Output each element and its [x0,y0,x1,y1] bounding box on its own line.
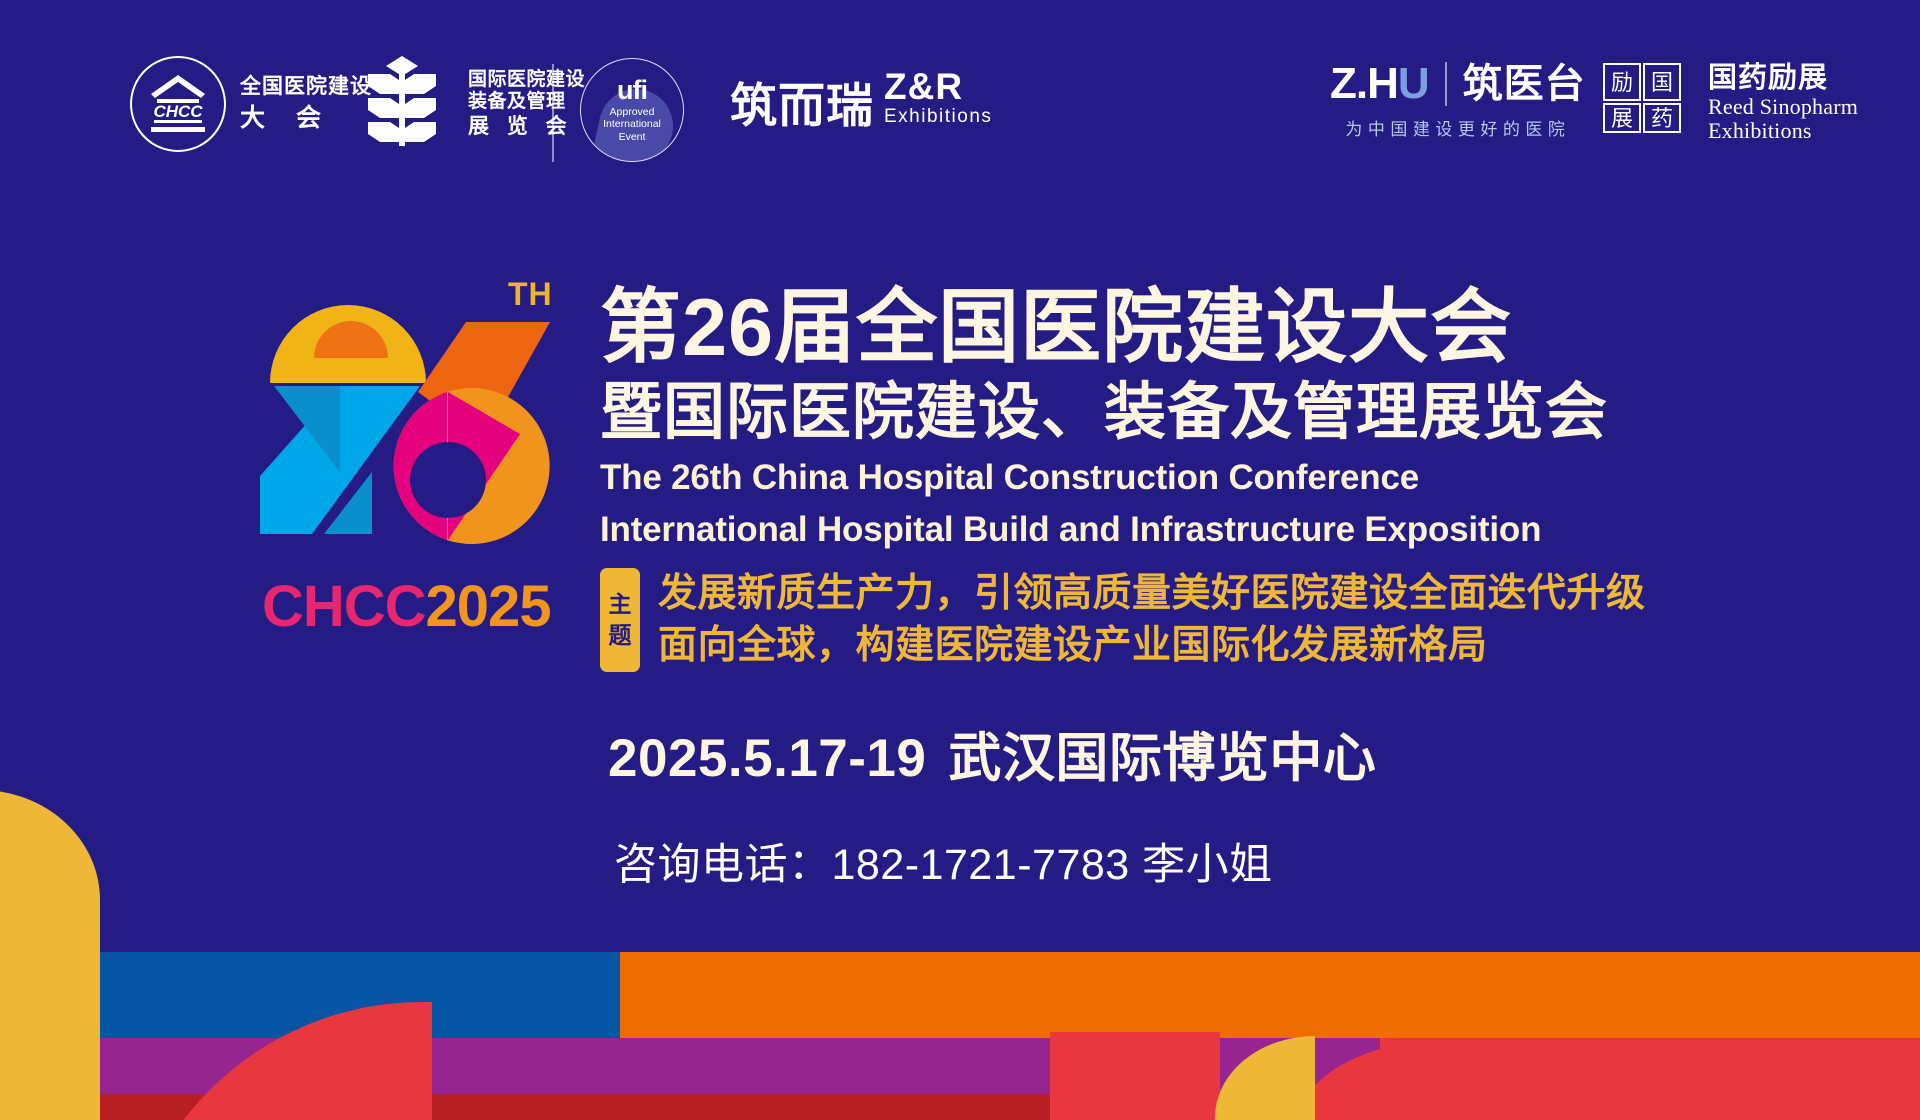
reed-logo-cn: 国药励展 [1708,63,1858,95]
zr-exhibitions-logo: 筑而瑞 Z&R Exhibitions [730,68,992,129]
title-chinese-primary: 第26届全国医院建设大会 [600,286,1900,372]
svg-text:CHCC: CHCC [153,102,203,121]
chcc-conference-logo: CHCC 全国医院建设 大 会 [130,56,372,152]
zhu-logo-divider [1445,62,1447,106]
reed-logo-text: 国药励展 Reed Sinopharm Exhibitions [1708,63,1858,143]
chcc-seal-glyph: CHCC [143,72,213,136]
main-content: 第26届全国医院建设大会 暨国际医院建设、装备及管理展览会 The 26th C… [600,286,1900,892]
deco-band-orange [620,952,1920,1038]
logo-header-row: CHCC 全国医院建设 大 会 [0,56,1920,168]
theme-section: 主 题 发展新质生产力，引领高质量美好医院建设全面迭代升级 面向全球，构建医院建… [600,568,1900,672]
svg-text:国: 国 [1651,70,1673,95]
ufi-sub-event: Event [619,131,646,143]
theme-badge: 主 题 [600,568,640,672]
zhu-wordmark: Z.HU [1330,62,1429,106]
zhu-mark-u: U [1398,59,1429,108]
zhu-platform-logo: Z.HU 筑医台 为中国建设更好的医院 [1330,62,1586,140]
deco-yellow-pillar [0,790,100,1120]
ufi-wordmark: ufi [617,75,647,106]
svg-text:药: 药 [1651,106,1673,131]
deco-red-drop [1050,1032,1220,1120]
emblem-ordinal-suffix: TH [508,276,553,313]
svg-text:励: 励 [1611,70,1633,95]
zhu-mark-z: Z. [1330,59,1367,108]
theme-line-1: 发展新质生产力，引领高质量美好医院建设全面迭代升级 [658,568,1646,620]
zhu-mark-h: H [1367,59,1398,108]
ufi-sub-approved: Approved [610,106,655,118]
expo-logo-line1: 国际医院建设 [468,69,585,91]
ufi-sub-international: International [603,118,661,130]
expo-stack-icon [350,54,454,154]
chcc-2025-wordmark: CHCC2025 [262,578,551,636]
wordmark-year: 2025 [426,574,551,639]
expo-logo-text: 国际医院建设 装备及管理 展 览 会 [468,69,585,139]
zr-logo-en-sub: Exhibitions [884,107,992,127]
zhu-logo-tagline: 为中国建设更好的医院 [1330,115,1586,140]
event-venue: 武汉国际博览中心 [948,729,1376,788]
expo-logo-line3: 展 览 会 [468,115,585,139]
reed-logo-en1: Reed Sinopharm [1708,95,1858,119]
header-divider [552,64,554,162]
title-english-line2: International Hospital Build and Infrast… [600,509,1900,550]
reed-sinopharm-logo: 励 国 展 药 国药励展 Reed Sinopharm Exhibitions [1600,60,1858,146]
theme-text: 发展新质生产力，引领高质量美好医院建设全面迭代升级 面向全球，构建医院建设产业国… [658,568,1646,672]
zr-logo-cn: 筑而瑞 [730,82,874,129]
reed-logo-en2: Exhibitions [1708,119,1858,143]
event-date: 2025.5.17-19 [608,729,926,788]
theme-line-2: 面向全球，构建医院建设产业国际化发展新格局 [658,620,1646,672]
title-chinese-secondary: 暨国际医院建设、装备及管理展览会 [600,378,1900,447]
wordmark-chcc: CHCC [262,574,426,639]
zhu-logo-cn: 筑医台 [1463,64,1586,104]
reed-seal-icon: 励 国 展 药 [1600,60,1684,146]
ufi-approved-logo: ufi Approved International Event [580,58,684,162]
theme-badge-char2: 题 [609,620,632,651]
expo-logo-line2: 装备及管理 [468,91,585,113]
deco-red-block-right [1380,1038,1920,1120]
chcc-seal-icon: CHCC [130,56,226,152]
theme-badge-char1: 主 [609,589,632,620]
expo-logo: 国际医院建设 装备及管理 展 览 会 [350,54,585,154]
zr-logo-en-main: Z&R [884,68,992,107]
event-poster: CHCC 全国医院建设 大 会 [0,0,1920,1120]
zr-logo-en: Z&R Exhibitions [884,68,992,129]
date-venue-row: 2025.5.17-19武汉国际博览中心 [608,716,1900,792]
contact-line: 咨询电话：182-1721-7783 李小姐 [614,830,1900,892]
svg-text:展: 展 [1611,106,1633,131]
title-english-line1: The 26th China Hospital Construction Con… [600,457,1900,498]
